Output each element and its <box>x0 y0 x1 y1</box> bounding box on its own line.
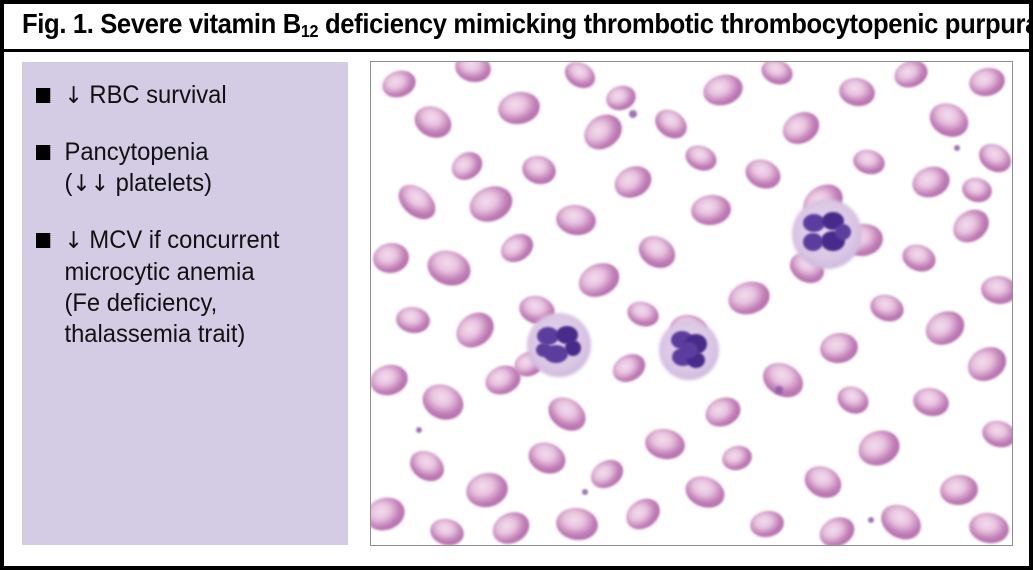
wbc-nuclear-lobe <box>536 343 552 357</box>
figure-border-left <box>0 0 4 570</box>
finding-line: (Fe deficiency, <box>65 288 322 319</box>
figure-title-prefix: Fig. 1. Severe vitamin B <box>22 8 301 39</box>
platelet <box>775 386 783 394</box>
platelet <box>868 517 874 523</box>
hypersegmented-neutrophil-1 <box>792 199 862 269</box>
hypersegmented-neutrophil-2 <box>527 313 591 377</box>
findings-list: ↓ RBC survivalPancytopenia(↓↓ platelets)… <box>36 80 321 350</box>
down-arrow-icon: ↓ <box>65 83 83 109</box>
platelet <box>954 145 960 151</box>
wbc-nuclear-lobe <box>565 340 581 356</box>
figure-border-right <box>1029 0 1033 570</box>
down-arrow-icon: ↓ <box>65 228 83 254</box>
wbc-nuclear-lobe <box>835 224 851 240</box>
platelet <box>629 110 637 118</box>
hypersegmented-neutrophil-3 <box>659 320 719 380</box>
platelet <box>416 427 422 433</box>
down-arrow-icon: ↓ <box>72 171 90 197</box>
finding-pancytopenia: Pancytopenia(↓↓ platelets) <box>36 137 321 200</box>
figure-title: Fig. 1. Severe vitamin B12 deficiency mi… <box>22 7 937 43</box>
wbc-cytoplasm <box>527 313 591 377</box>
finding-line: Pancytopenia <box>65 137 322 168</box>
finding-line: (↓↓ platelets) <box>65 168 322 200</box>
wbc-nuclear-lobe <box>803 233 823 251</box>
bullet-square-icon <box>36 88 50 103</box>
figure-border-bottom <box>0 566 1033 570</box>
finding-rbc-survival: ↓ RBC survival <box>36 80 321 112</box>
finding-line: microcytic anemia <box>65 257 322 288</box>
blood-smear-image <box>371 62 1012 545</box>
figure-title-suffix: deficiency mimicking thrombotic thromboc… <box>318 8 1033 39</box>
platelet <box>582 489 588 495</box>
finding-line: ↓ RBC survival <box>65 80 322 112</box>
wbc-nuclear-lobe <box>803 214 825 232</box>
down-arrow-icon: ↓ <box>91 171 109 197</box>
wbc-nuclear-lobe <box>537 327 559 345</box>
title-rule <box>4 49 1029 52</box>
figure-border-top <box>0 0 1033 4</box>
finding-line: ↓ MCV if concurrent <box>65 225 322 257</box>
wbc-nuclear-lobe <box>680 342 698 358</box>
bullet-square-icon <box>36 145 50 160</box>
figure-container: Fig. 1. Severe vitamin B12 deficiency mi… <box>0 0 1033 570</box>
micrograph-panel <box>370 61 1013 546</box>
figure-title-subscript: 12 <box>301 21 318 41</box>
finding-mcv-concurrent-microcytic-anemia: ↓ MCV if concurrentmicrocytic anemia(Fe … <box>36 225 321 350</box>
smear-background <box>371 62 1012 545</box>
finding-line: thalassemia trait) <box>65 319 322 350</box>
findings-panel: ↓ RBC survivalPancytopenia(↓↓ platelets)… <box>22 62 348 545</box>
bullet-square-icon <box>36 233 50 248</box>
